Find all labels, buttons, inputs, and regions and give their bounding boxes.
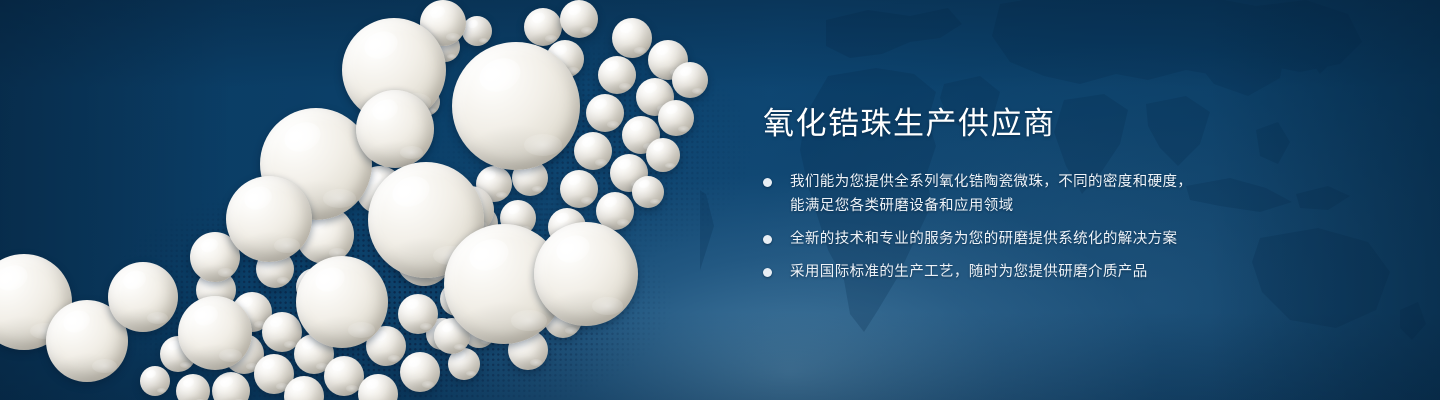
zirconia-beads-image bbox=[0, 0, 760, 400]
list-item: 我们能为您提供全系列氧化锆陶瓷微珠，不同的密度和硬度，能满足您各类研磨设备和应用… bbox=[763, 170, 1203, 218]
list-item: 全新的技术和专业的服务为您的研磨提供系统化的解决方案 bbox=[763, 227, 1203, 251]
list-item-label: 我们能为您提供全系列氧化锆陶瓷微珠，不同的密度和硬度，能满足您各类研磨设备和应用… bbox=[790, 174, 1192, 214]
hero-banner: 氧化锆珠生产供应商 我们能为您提供全系列氧化锆陶瓷微珠，不同的密度和硬度，能满足… bbox=[0, 0, 1440, 400]
feature-list: 我们能为您提供全系列氧化锆陶瓷微珠，不同的密度和硬度，能满足您各类研磨设备和应用… bbox=[763, 170, 1203, 284]
hero-copy: 氧化锆珠生产供应商 我们能为您提供全系列氧化锆陶瓷微珠，不同的密度和硬度，能满足… bbox=[763, 104, 1203, 284]
bullet-dot-icon bbox=[763, 178, 772, 187]
list-item: 采用国际标准的生产工艺，随时为您提供研磨介质产品 bbox=[763, 260, 1203, 284]
bullet-dot-icon bbox=[763, 268, 772, 277]
page-title: 氧化锆珠生产供应商 bbox=[763, 104, 1203, 144]
bullet-dot-icon bbox=[763, 235, 772, 244]
list-item-label: 采用国际标准的生产工艺，随时为您提供研磨介质产品 bbox=[790, 264, 1148, 280]
list-item-label: 全新的技术和专业的服务为您的研磨提供系统化的解决方案 bbox=[790, 231, 1177, 247]
